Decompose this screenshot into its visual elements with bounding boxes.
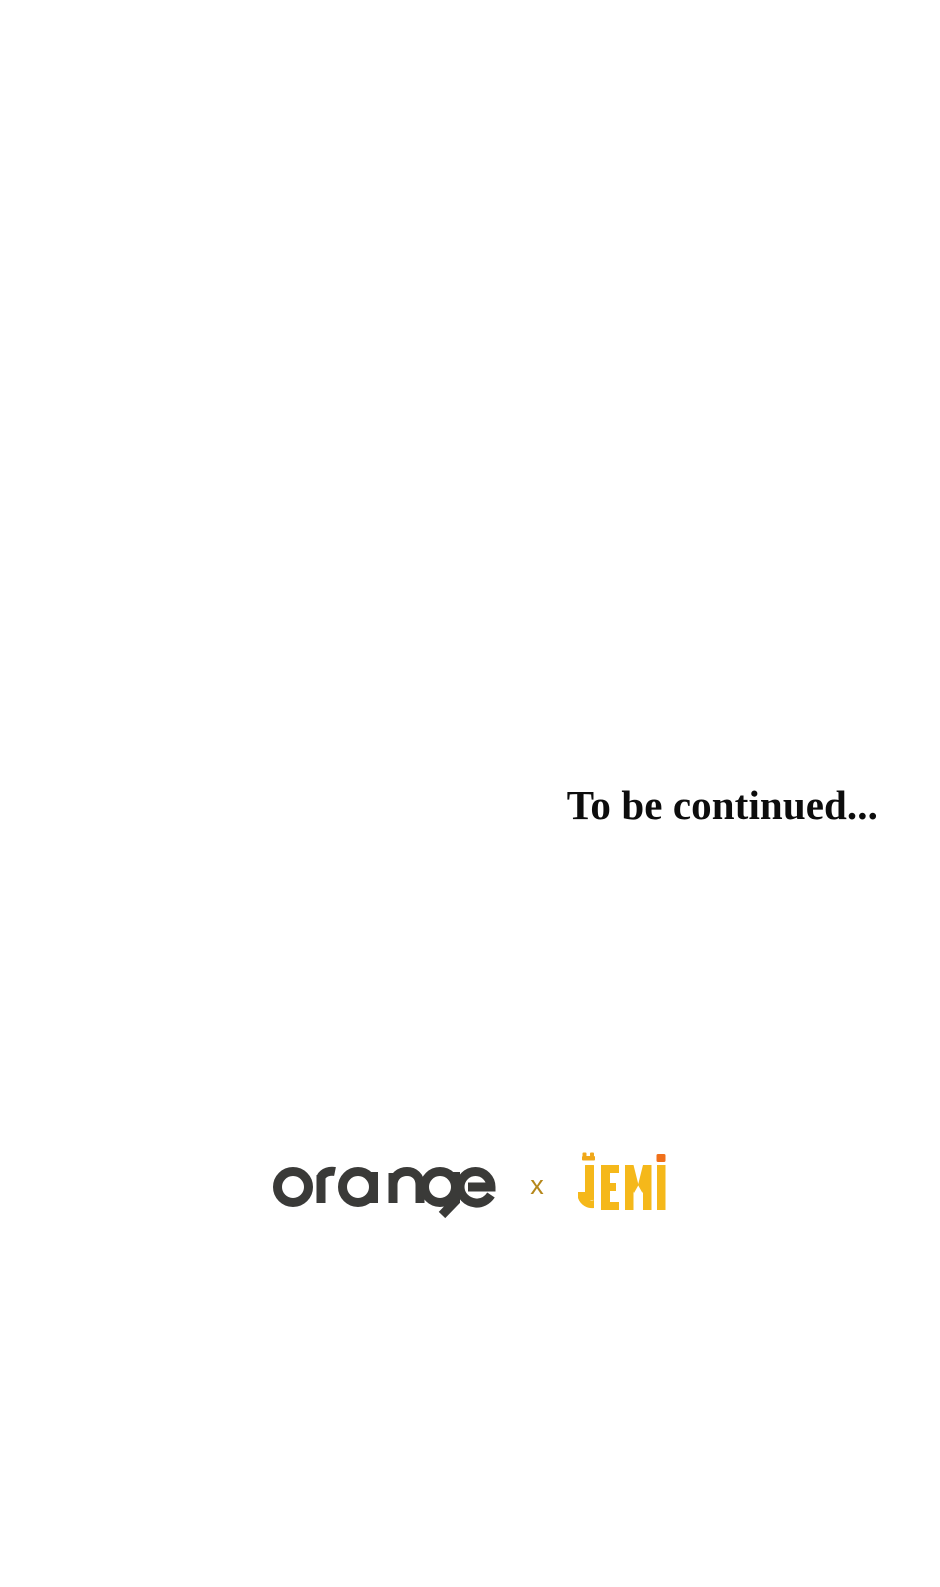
collaboration-separator: x: [498, 1172, 576, 1199]
to-be-continued-text: To be continued...: [567, 780, 878, 830]
end-card-page: To be continued... orangeD: [0, 0, 940, 1587]
jemi-dot: [657, 1154, 666, 1162]
brand-credits-row: orangeD: [0, 1143, 940, 1221]
jemi-top-mark: [582, 1153, 595, 1161]
end-card-caption-block: To be continued...: [0, 780, 878, 830]
jemi-logo[interactable]: JEMİ: [576, 1143, 668, 1221]
oranged-logo[interactable]: orangeD: [272, 1143, 498, 1221]
